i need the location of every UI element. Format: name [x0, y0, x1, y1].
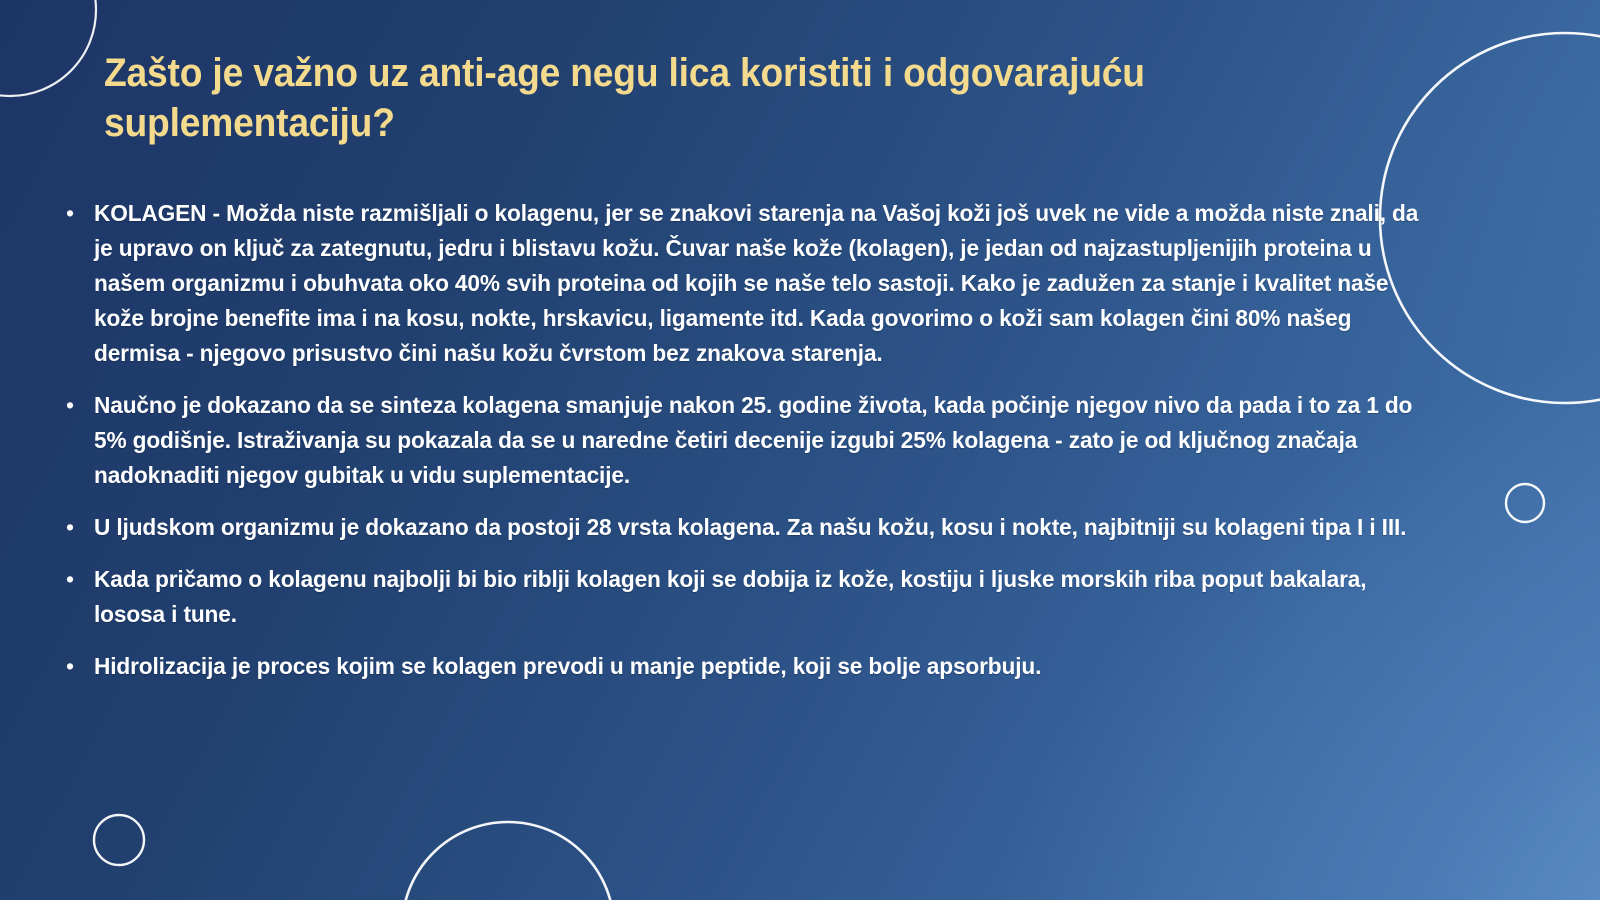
bullet-marker: •: [58, 196, 94, 231]
bullet-marker: •: [58, 510, 94, 545]
slide-body-list: • KOLAGEN - Možda niste razmišljali o ko…: [58, 196, 1468, 701]
list-item-text: KOLAGEN - Možda niste razmišljali o kola…: [94, 196, 1420, 371]
bullet-marker: •: [58, 649, 94, 684]
circle-bottom-center-icon: [402, 822, 614, 900]
bullet-marker: •: [58, 562, 94, 597]
presentation-slide: Zašto je važno uz anti-age negu lica kor…: [0, 0, 1600, 900]
circle-top-left-icon: [0, 0, 96, 96]
list-item: • Hidrolizacija je proces kojim se kolag…: [58, 649, 1468, 684]
list-item-text: Naučno je dokazano da se sinteza kolagen…: [94, 388, 1420, 493]
list-item-text: Kada pričamo o kolagenu najbolji bi bio …: [94, 562, 1420, 632]
circle-right-small-icon: [1506, 484, 1544, 522]
list-item-text: Hidrolizacija je proces kojim se kolagen…: [94, 649, 1420, 684]
list-item-text: U ljudskom organizmu je dokazano da post…: [94, 510, 1420, 545]
list-item: • KOLAGEN - Možda niste razmišljali o ko…: [58, 196, 1468, 371]
bullet-marker: •: [58, 388, 94, 423]
list-item: • Naučno je dokazano da se sinteza kolag…: [58, 388, 1468, 493]
list-item: • Kada pričamo o kolagenu najbolji bi bi…: [58, 562, 1468, 632]
circle-bottom-left-small-icon: [94, 815, 144, 865]
slide-title: Zašto je važno uz anti-age negu lica kor…: [104, 48, 1285, 148]
list-item: • U ljudskom organizmu je dokazano da po…: [58, 510, 1468, 545]
